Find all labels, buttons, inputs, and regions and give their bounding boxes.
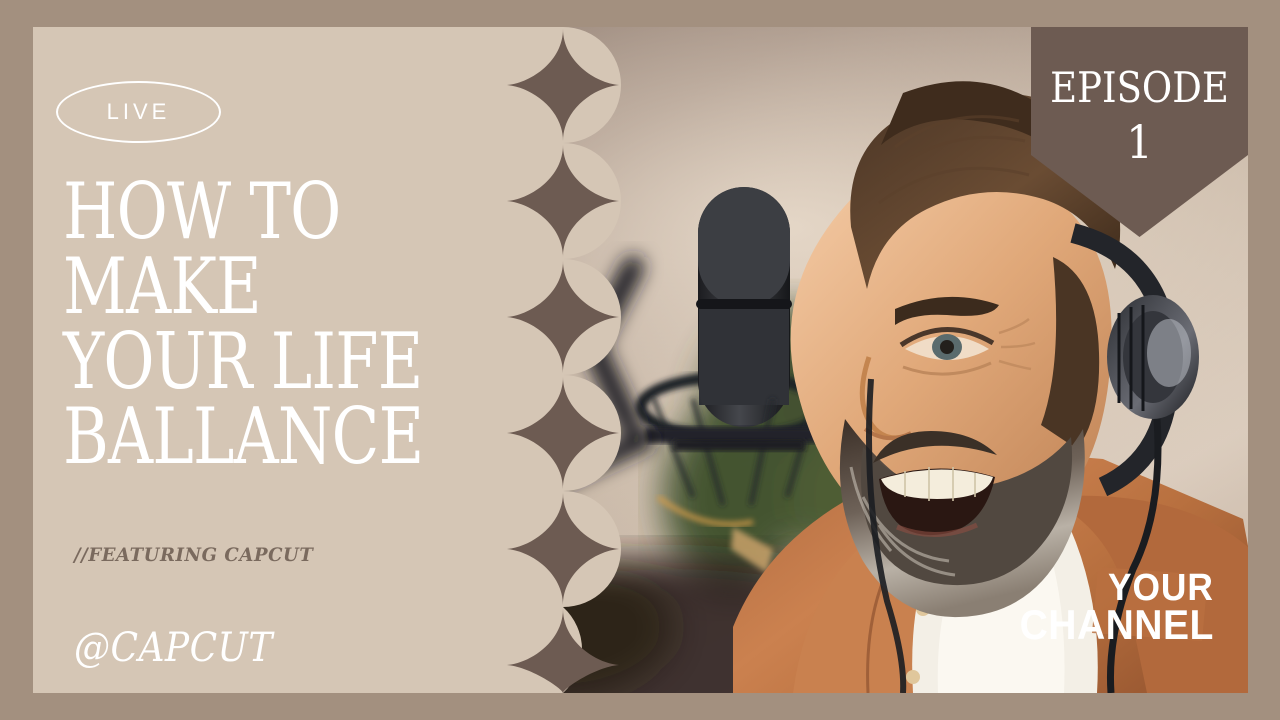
title-line-2: MAKE — [63, 250, 439, 325]
channel-line-2: CHANNEL — [1020, 606, 1214, 645]
subtitle: //FEATURING CAPCUT — [74, 544, 313, 566]
live-badge[interactable]: LIVE — [56, 81, 221, 143]
page-title: HOW TO MAKE YOUR LIFE BALLANCE — [63, 175, 533, 475]
title-line-3: YOUR LIFE — [63, 325, 439, 400]
live-badge-label: LIVE — [107, 99, 171, 125]
thumbnail-canvas: LIVE HOW TO MAKE YOUR LIFE BALLANCE //FE… — [0, 0, 1280, 720]
social-handle: @CAPCUT — [74, 625, 273, 671]
title-line-4: BALLANCE — [63, 400, 439, 475]
episode-number: 1 — [1042, 115, 1237, 169]
episode-label: EPISODE — [1044, 63, 1235, 112]
title-line-1: HOW TO — [63, 175, 439, 250]
episode-badge: EPISODE 1 — [1031, 27, 1248, 237]
inner-card: LIVE HOW TO MAKE YOUR LIFE BALLANCE //FE… — [33, 27, 1248, 693]
channel-name: YOUR CHANNEL — [1005, 571, 1214, 645]
